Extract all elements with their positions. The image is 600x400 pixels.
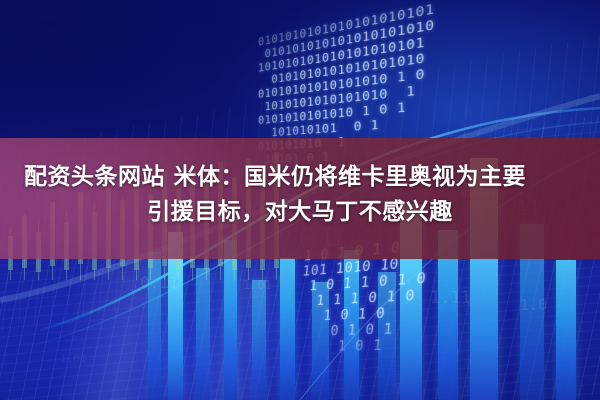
headline-line-2: 引援目标，对大马丁不感兴趣 (0, 195, 600, 230)
floating-number: 0.11 (140, 273, 179, 292)
floating-number: 1.11 (430, 288, 471, 308)
banner-image: 0101010101010101010101 01010101010101010… (0, 0, 600, 400)
floating-number: 1.01 (243, 278, 272, 292)
floating-number: 0.11 (330, 320, 354, 331)
floating-number: 1.01 (60, 352, 87, 365)
headline-text: 配资头条网站 米体：国米仍将维卡里奥视为主要 引援目标，对大马丁不感兴趣 (0, 160, 600, 230)
floating-number: 1.0 (520, 296, 547, 314)
headline-line-1: 配资头条网站 米体：国米仍将维卡里奥视为主要 (0, 160, 600, 195)
